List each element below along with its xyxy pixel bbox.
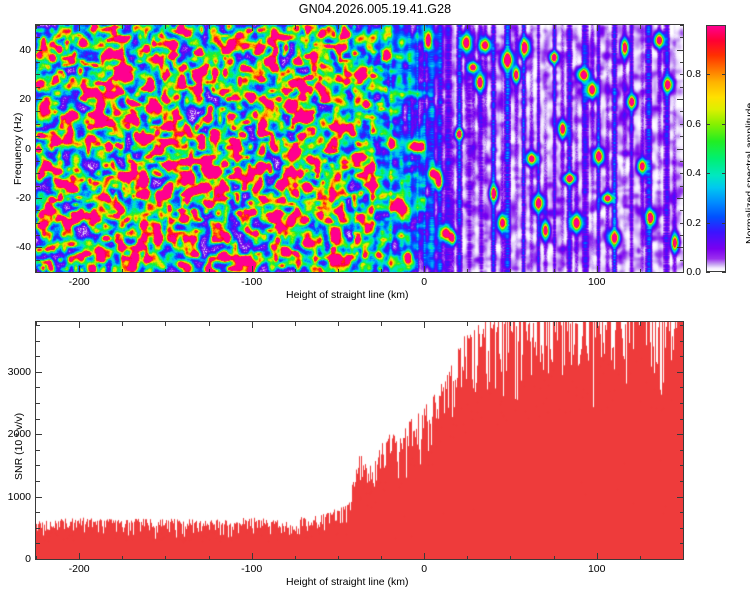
x-tick (640, 322, 641, 326)
x-tick-label: -200 (69, 276, 90, 288)
y-tick (36, 512, 40, 513)
x-tick-label: -200 (69, 563, 90, 575)
y-tick-label: 20 (19, 93, 31, 105)
y-tick (680, 25, 684, 26)
y-tick (680, 387, 684, 388)
y-tick (680, 450, 684, 451)
y-tick (36, 111, 40, 112)
x-tick (122, 556, 123, 560)
x-tick (640, 269, 641, 273)
y-tick (36, 465, 40, 466)
x-tick (597, 266, 598, 272)
x-tick (597, 553, 598, 559)
y-tick (677, 559, 683, 560)
x-tick-label: -100 (241, 276, 262, 288)
y-tick (36, 419, 40, 420)
y-tick (36, 434, 42, 435)
y-tick (680, 341, 684, 342)
x-tick (122, 25, 123, 29)
y-tick (680, 37, 684, 38)
y-tick (36, 528, 40, 529)
y-tick (677, 434, 683, 435)
x-tick (165, 25, 166, 29)
x-tick (165, 269, 166, 273)
x-tick (424, 266, 425, 272)
x-tick (554, 322, 555, 326)
x-tick (640, 556, 641, 560)
y-tick (36, 356, 40, 357)
y-tick (36, 74, 40, 75)
y-tick (36, 260, 40, 261)
y-tick (680, 74, 684, 75)
x-tick (467, 269, 468, 273)
x-tick (209, 25, 210, 29)
y-tick (36, 325, 40, 326)
spectrogram-image (36, 25, 683, 272)
x-tick (295, 25, 296, 29)
x-tick (554, 269, 555, 273)
y-tick (680, 235, 684, 236)
y-tick (680, 124, 684, 125)
figure-root: GN04.2026.005.19.41.G28 -200-1000100-40-… (0, 0, 750, 600)
colorbar-tick-label: 0.8 (686, 68, 701, 80)
y-tick (680, 223, 684, 224)
y-tick (36, 543, 40, 544)
y-tick (677, 372, 683, 373)
x-tick-label: 0 (421, 563, 427, 575)
y-tick (677, 99, 683, 100)
colorbar-tick-label: 0.0 (686, 266, 701, 278)
y-tick (36, 186, 40, 187)
y-tick (36, 173, 40, 174)
x-tick-label: 100 (588, 563, 606, 575)
y-tick (36, 387, 40, 388)
y-tick (680, 161, 684, 162)
y-tick (677, 149, 683, 150)
snr-yaxis-label: SNR (10 * v/v) (13, 413, 25, 480)
x-tick (683, 322, 684, 326)
x-tick (79, 553, 80, 559)
colorbar-tick (722, 272, 726, 273)
y-tick (36, 210, 40, 211)
spectrogram-xaxis-label: Height of straight line (km) (286, 289, 409, 301)
y-tick (680, 356, 684, 357)
y-tick-label: 1000 (8, 491, 31, 503)
x-tick (510, 322, 511, 326)
y-tick (36, 124, 40, 125)
x-tick (252, 322, 253, 328)
y-tick (680, 210, 684, 211)
colorbar-tick (722, 173, 726, 174)
x-tick (252, 25, 253, 31)
x-tick (597, 322, 598, 328)
y-tick (36, 136, 40, 137)
x-tick (424, 25, 425, 31)
y-tick (680, 543, 684, 544)
y-tick (36, 223, 40, 224)
x-tick (209, 556, 210, 560)
x-tick (122, 269, 123, 273)
x-tick (338, 322, 339, 326)
x-tick (467, 556, 468, 560)
y-tick (677, 198, 683, 199)
x-tick-label: 100 (588, 276, 606, 288)
y-tick (36, 403, 40, 404)
x-tick (338, 269, 339, 273)
y-tick (36, 481, 40, 482)
y-tick-label: 3000 (8, 366, 31, 378)
x-tick (165, 556, 166, 560)
y-tick (680, 87, 684, 88)
y-tick (680, 272, 684, 273)
x-tick (683, 556, 684, 560)
y-tick (680, 260, 684, 261)
x-tick-label: 0 (421, 276, 427, 288)
x-tick (79, 266, 80, 272)
y-tick (36, 235, 40, 236)
y-tick (680, 403, 684, 404)
x-tick (640, 25, 641, 29)
x-tick-label: -100 (241, 563, 262, 575)
x-tick (554, 25, 555, 29)
colorbar-tick (706, 124, 710, 125)
colorbar-label: Normalized spectral amplitude (744, 103, 750, 244)
colorbar-tick (706, 272, 710, 273)
y-tick (680, 481, 684, 482)
y-tick (680, 512, 684, 513)
x-tick (381, 269, 382, 273)
x-tick (295, 322, 296, 326)
y-tick (36, 198, 42, 199)
colorbar-tick-label: 0.4 (686, 167, 701, 179)
y-tick (680, 62, 684, 63)
colorbar-tick-label: 0.6 (686, 118, 701, 130)
x-tick (510, 556, 511, 560)
spectrogram-yaxis-label: Frequency (Hz) (12, 113, 24, 185)
colorbar (706, 25, 726, 272)
y-tick-label: 40 (19, 44, 31, 56)
x-tick (381, 556, 382, 560)
colorbar-tick (722, 223, 726, 224)
x-tick (683, 269, 684, 273)
y-tick (36, 161, 40, 162)
x-tick (554, 556, 555, 560)
y-tick (36, 50, 42, 51)
y-tick (36, 272, 40, 273)
y-tick (36, 99, 42, 100)
figure-title: GN04.2026.005.19.41.G28 (0, 2, 750, 16)
y-tick-label: -20 (16, 192, 31, 204)
y-tick-label: 0 (25, 143, 31, 155)
y-tick (677, 247, 683, 248)
y-tick (36, 450, 40, 451)
y-tick (680, 136, 684, 137)
x-tick (683, 25, 684, 29)
x-tick (510, 269, 511, 273)
colorbar-tick-label: 0.2 (686, 217, 701, 229)
x-tick (79, 25, 80, 31)
y-tick (677, 50, 683, 51)
y-tick (680, 325, 684, 326)
x-tick (597, 25, 598, 31)
x-tick (424, 322, 425, 328)
snr-xaxis-label: Height of straight line (km) (286, 576, 409, 588)
x-tick (424, 553, 425, 559)
y-tick (36, 37, 40, 38)
y-tick (36, 87, 40, 88)
x-tick (295, 556, 296, 560)
x-tick (209, 269, 210, 273)
snr-trace (36, 322, 683, 559)
x-tick (338, 25, 339, 29)
colorbar-tick (706, 173, 710, 174)
x-tick (165, 322, 166, 326)
x-tick (122, 322, 123, 326)
y-tick (680, 528, 684, 529)
y-tick (36, 559, 42, 560)
y-tick (680, 419, 684, 420)
y-tick-label: -40 (16, 241, 31, 253)
x-tick (209, 322, 210, 326)
x-tick (338, 556, 339, 560)
y-tick (36, 25, 40, 26)
x-tick (252, 266, 253, 272)
x-tick (381, 25, 382, 29)
x-tick (252, 553, 253, 559)
y-tick (677, 497, 683, 498)
y-tick (680, 465, 684, 466)
x-tick (510, 25, 511, 29)
y-tick (680, 186, 684, 187)
y-tick (36, 497, 42, 498)
y-tick (36, 341, 40, 342)
colorbar-tick (722, 124, 726, 125)
y-tick (36, 372, 42, 373)
x-tick (79, 322, 80, 328)
y-tick (36, 247, 42, 248)
y-tick (680, 111, 684, 112)
y-tick-label: 0 (25, 553, 31, 565)
x-tick (381, 322, 382, 326)
x-tick (295, 269, 296, 273)
y-tick (680, 173, 684, 174)
x-tick (467, 322, 468, 326)
y-tick (36, 62, 40, 63)
colorbar-tick (706, 74, 710, 75)
colorbar-tick (722, 74, 726, 75)
colorbar-tick (706, 223, 710, 224)
x-tick (467, 25, 468, 29)
y-tick (36, 149, 42, 150)
